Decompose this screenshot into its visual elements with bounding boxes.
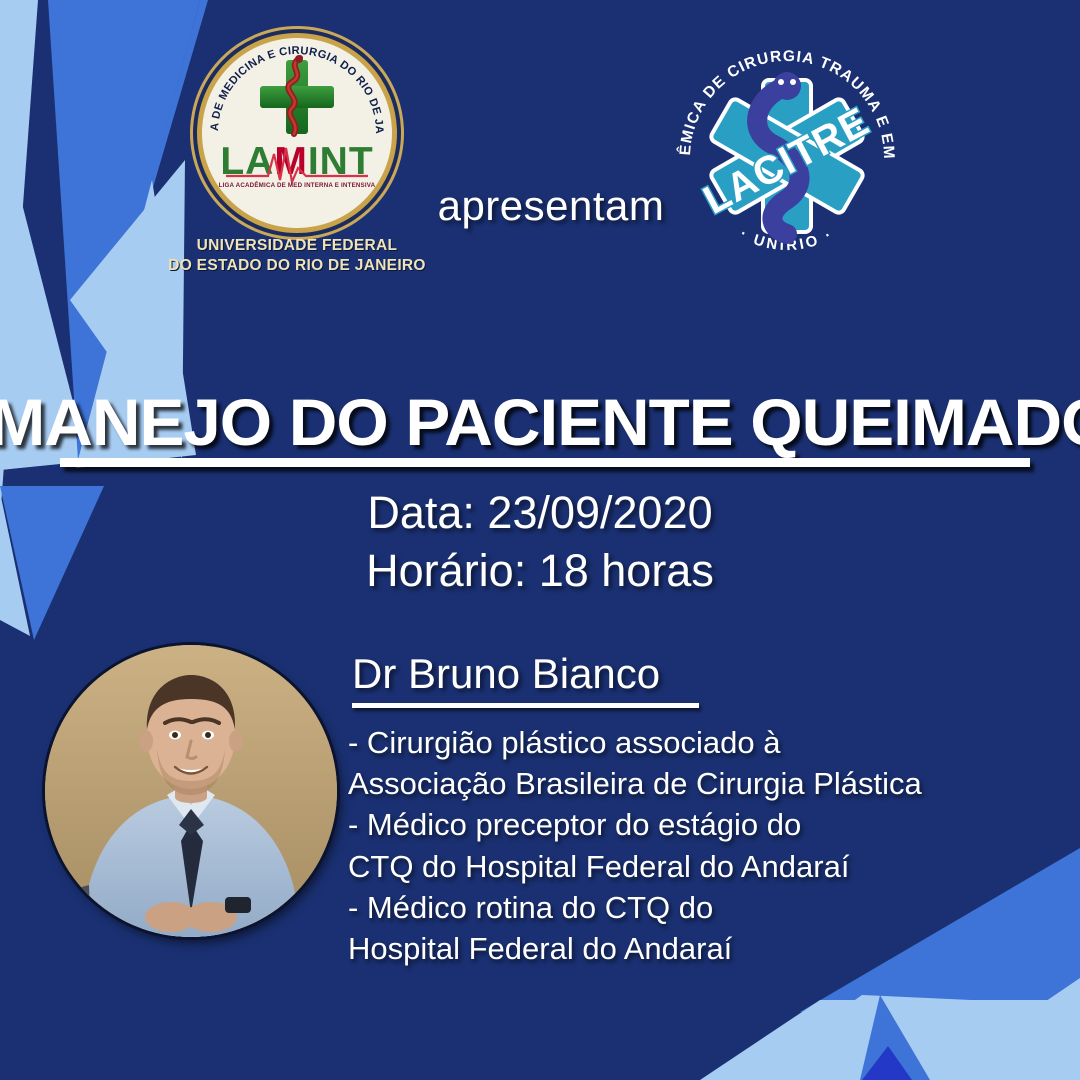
lamint-seal: ESCOLA DE MEDICINA E CIRURGIA DO RIO DE … <box>202 38 392 228</box>
speaker-photo <box>45 645 337 937</box>
title-underline <box>60 458 1030 467</box>
speaker-name-underline <box>352 703 699 708</box>
credential-line: - Cirurgião plástico associado à <box>348 722 1064 763</box>
credential-line: CTQ do Hospital Federal do Andaraí <box>348 846 1064 887</box>
speaker-name: Dr Bruno Bianco <box>352 650 660 698</box>
lacitre-logo: LIGA ACADÊMICA DE CIRURGIA TRAUMA E EMER… <box>668 34 906 278</box>
credential-line: Associação Brasileira de Cirurgia Plásti… <box>348 763 1064 804</box>
credential-line: - Médico preceptor do estágio do <box>348 804 1064 845</box>
university-line-2: DO ESTADO DO RIO DE JANEIRO <box>166 256 428 276</box>
credential-line: Hospital Federal do Andaraí <box>348 928 1064 969</box>
presented-by-label: apresentam <box>416 182 686 230</box>
event-date: Data: 23/09/2020 <box>0 484 1080 542</box>
credential-line: - Médico rotina do CTQ do <box>348 887 1064 928</box>
lacitre-logo-svg: LIGA ACADÊMICA DE CIRURGIA TRAUMA E EMER… <box>668 34 906 278</box>
speaker-portrait-illustration <box>45 645 337 937</box>
event-poster: ESCOLA DE MEDICINA E CIRURGIA DO RIO DE … <box>0 0 1080 1080</box>
caduceus-snake-icon <box>280 54 314 142</box>
event-details: Data: 23/09/2020 Horário: 18 horas <box>0 484 1080 599</box>
university-line-1: UNIVERSIDADE FEDERAL <box>166 236 428 256</box>
lamint-subtitle: LIGA ACADÊMICA DE MED INTERNA E INTENSIV… <box>210 182 384 189</box>
page-title: MANEJO DO PACIENTE QUEIMADO <box>0 384 1080 460</box>
event-time: Horário: 18 horas <box>0 542 1080 600</box>
speaker-credentials: - Cirurgião plástico associado à Associa… <box>348 722 1064 969</box>
lamint-logo: ESCOLA DE MEDICINA E CIRURGIA DO RIO DE … <box>176 38 418 298</box>
lamint-university: UNIVERSIDADE FEDERAL DO ESTADO DO RIO DE… <box>166 236 428 276</box>
ecg-line-icon <box>226 146 368 186</box>
